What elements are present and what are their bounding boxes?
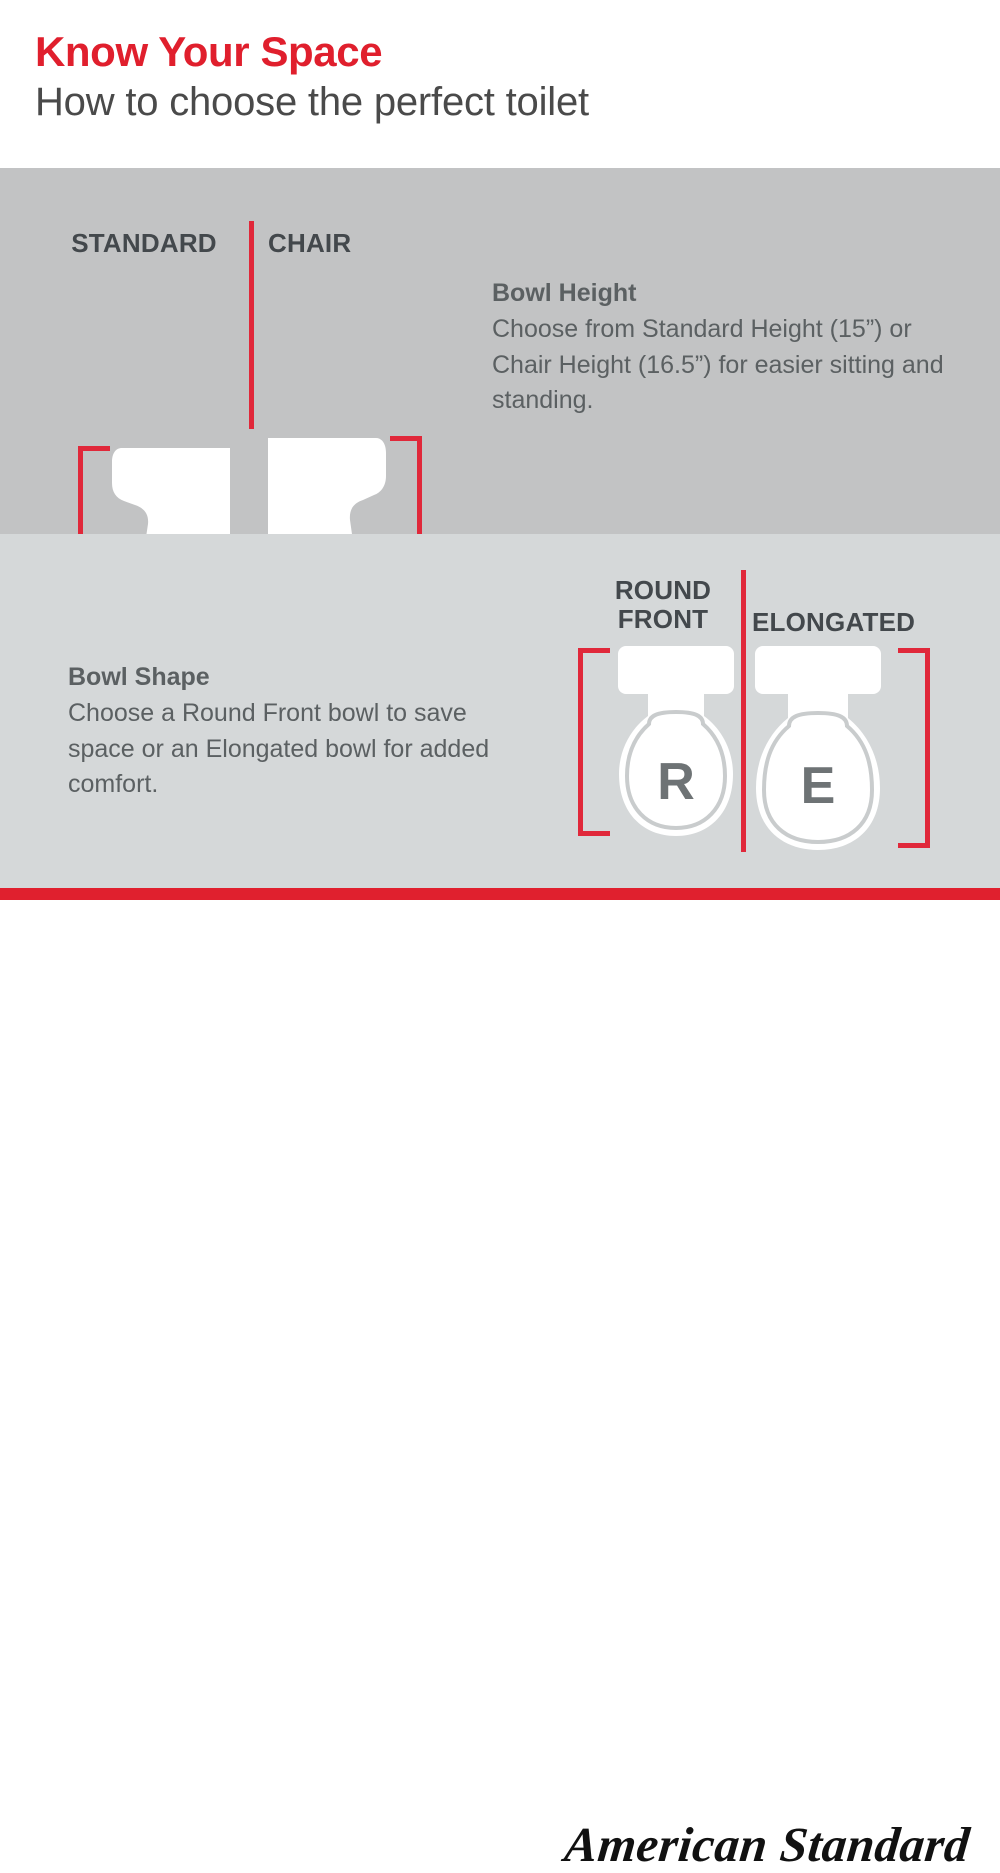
bowl-letter-elongated: E [752, 756, 884, 816]
label-elongated: ELONGATED [752, 608, 970, 637]
bowl-height-text-block: Bowl Height Choose from Standard Height … [492, 278, 962, 419]
bowl-shape-text-block: Bowl Shape Choose a Round Front bowl to … [68, 662, 538, 803]
label-round-front: ROUND FRONT [592, 576, 734, 634]
bowl-height-heading: Bowl Height [492, 278, 962, 308]
vertical-divider-height [249, 221, 254, 429]
label-standard: STANDARD [54, 228, 234, 259]
measure-bracket-round-front [578, 648, 610, 836]
bowl-shape-heading: Bowl Shape [68, 662, 538, 692]
page-title: Know Your Space [35, 31, 382, 73]
bowl-height-body: Choose from Standard Height (15”) or Cha… [492, 312, 962, 419]
header: Know Your Space How to choose the perfec… [0, 0, 1000, 168]
footer-red-rule [0, 888, 1000, 900]
infographic-page: Know Your Space How to choose the perfec… [0, 0, 1000, 1000]
toilet-top-view-elongated-icon [752, 646, 884, 854]
label-chair: CHAIR [268, 228, 386, 259]
toilet-top-view-round-front-icon [615, 646, 737, 842]
bowl-letter-round-front: R [615, 752, 737, 812]
measure-bracket-elongated [898, 648, 930, 848]
page-subtitle: How to choose the perfect toilet [35, 82, 589, 122]
bowl-shape-body: Choose a Round Front bowl to save space … [68, 696, 538, 803]
footer: American Standard [0, 900, 1000, 1000]
section-bowl-height: STANDARD CHAIR 15” 16.5” Bowl Height Cho… [0, 168, 1000, 534]
brand-logo: American Standard [562, 1816, 973, 1873]
vertical-divider-shape [741, 570, 746, 852]
